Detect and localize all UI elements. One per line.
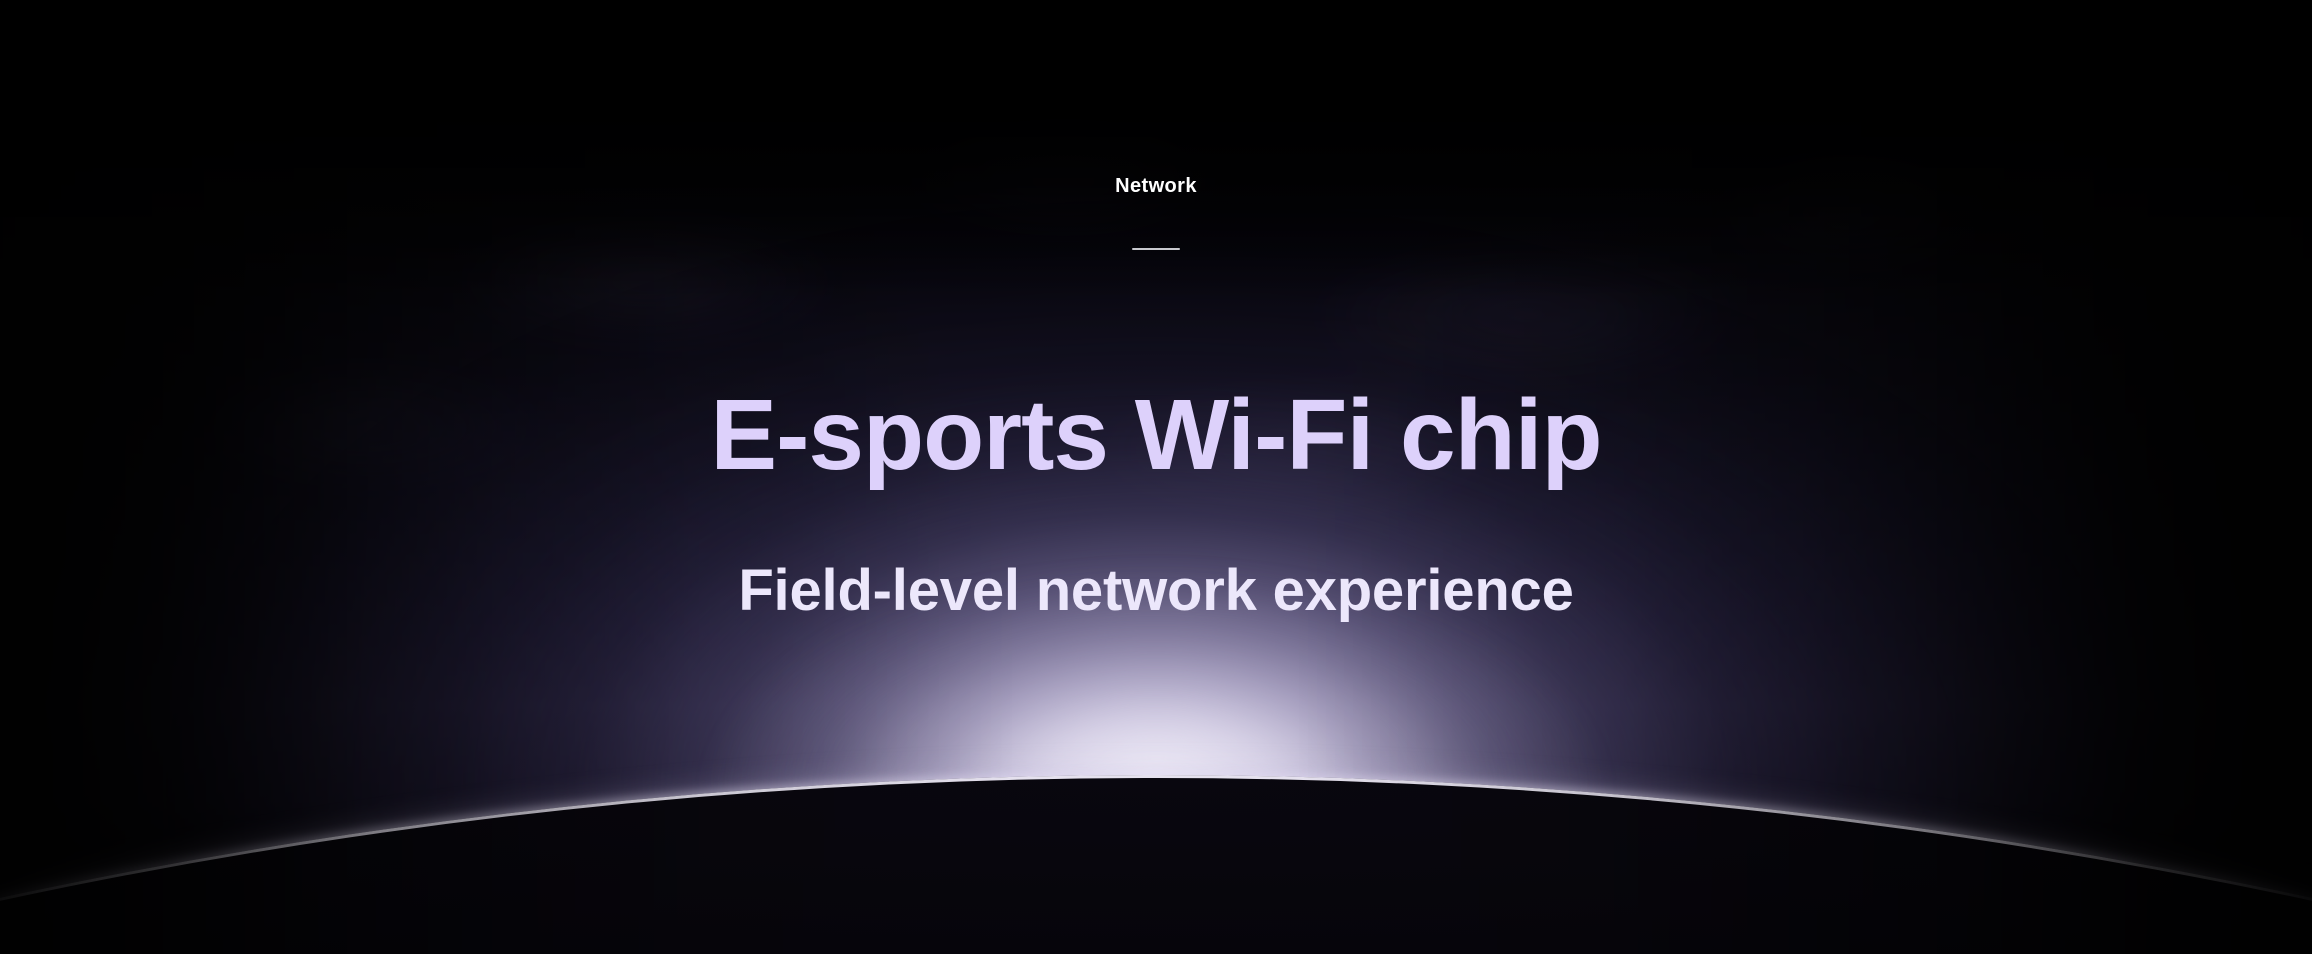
hero-banner: Network E-sports Wi-Fi chip Field-level … [0, 0, 2312, 954]
page-subtitle: Field-level network experience [0, 556, 2312, 626]
eyebrow-divider [1132, 248, 1180, 250]
background-glow-core [706, 570, 1606, 954]
eyebrow-label: Network [0, 176, 2312, 196]
page-title: E-sports Wi-Fi chip [0, 379, 2312, 491]
